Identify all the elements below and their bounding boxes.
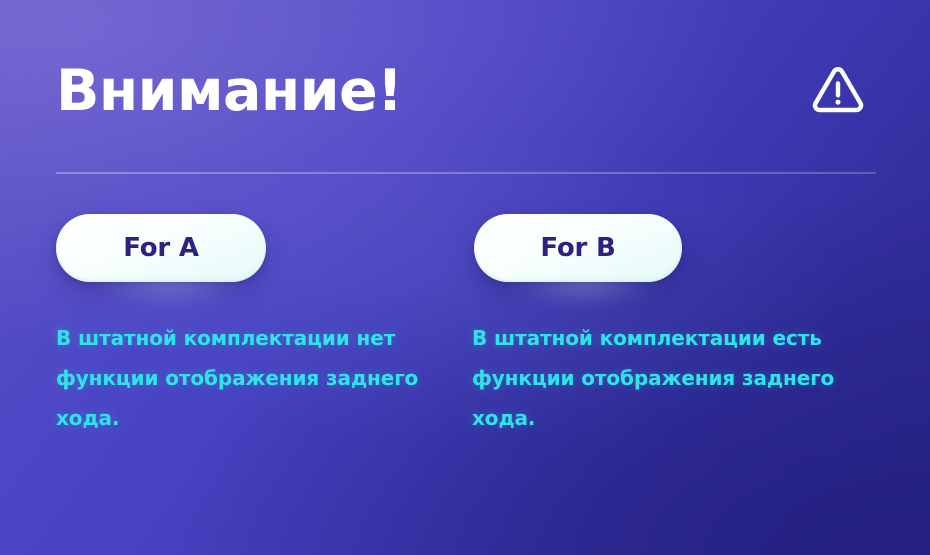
pill-wrap-for-b: For B [472,214,890,292]
page-title: Внимание! [56,63,402,120]
column-for-b: For B В штатной комплектации есть функци… [472,214,890,438]
pill-wrap-for-a: For A [56,214,474,292]
slide-header: Внимание! [56,48,874,134]
warning-slide: Внимание! For A В штатной комплектации н… [0,0,930,555]
header-divider [56,172,876,174]
slide-content: Внимание! For A В штатной комплектации н… [0,0,930,555]
comparison-columns: For A В штатной комплектации нет функции… [56,214,890,438]
for-a-description: В штатной комплектации нет функции отобр… [56,318,448,438]
column-for-a: For A В штатной комплектации нет функции… [56,214,474,438]
for-b-button[interactable]: For B [474,214,682,282]
warning-triangle-icon [810,63,874,119]
for-a-button[interactable]: For A [56,214,266,282]
for-b-description: В штатной комплектации есть функции отоб… [472,318,868,438]
